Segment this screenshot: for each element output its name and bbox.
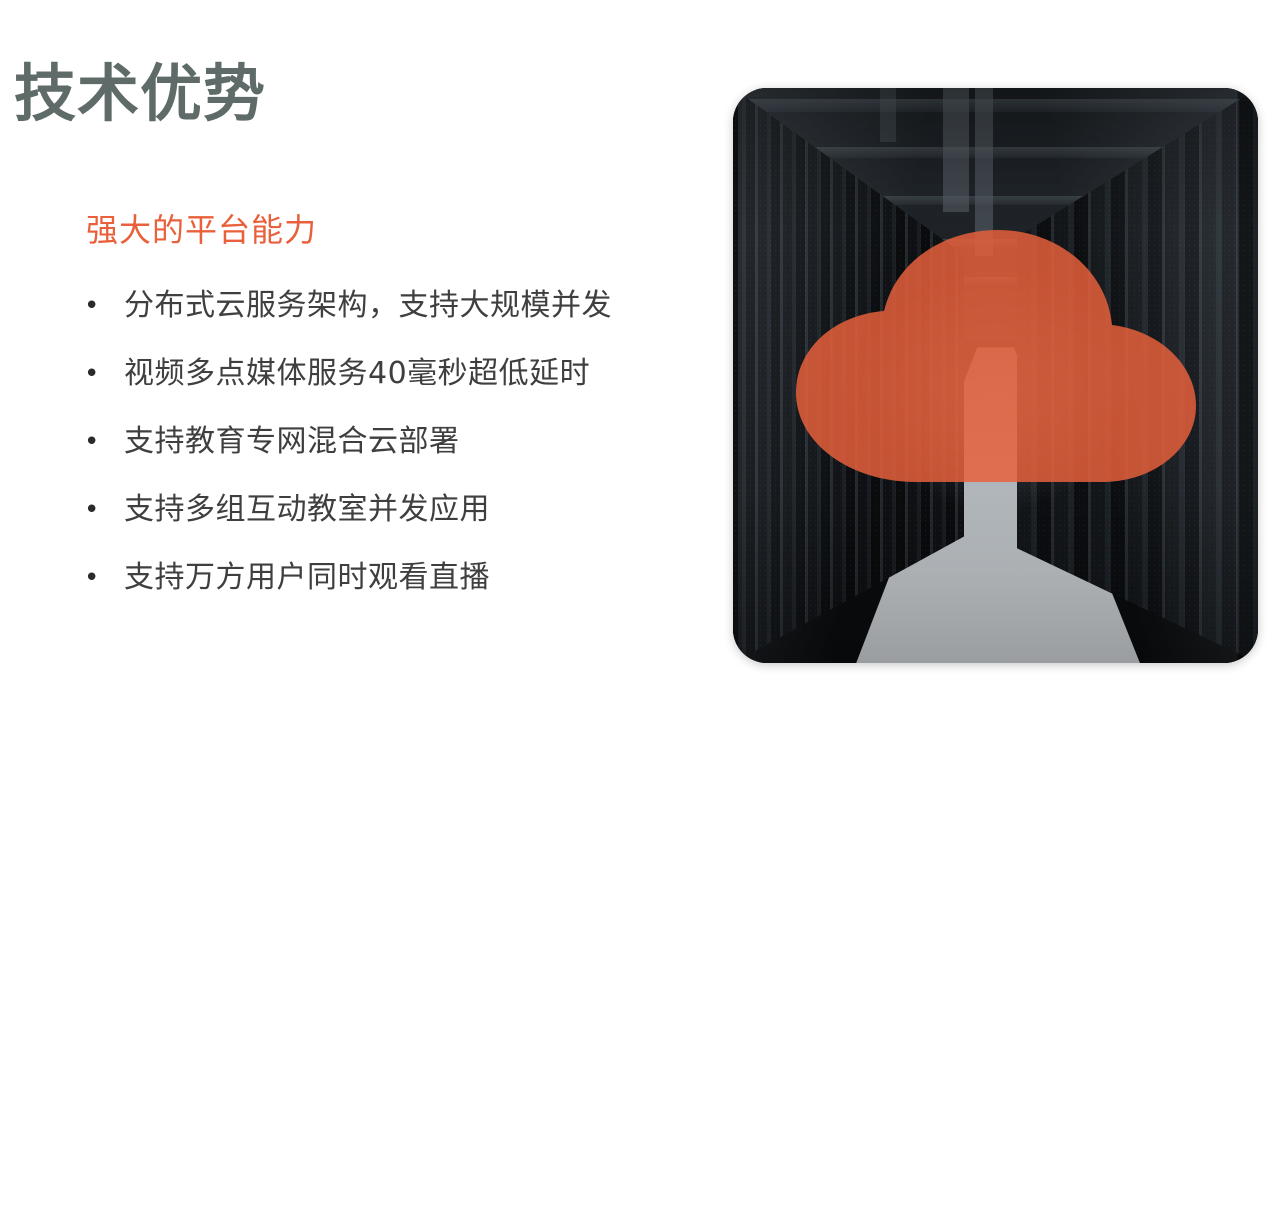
data-center-photo-card [733,88,1258,663]
list-item: • 分布式云服务架构，支持大规模并发 [0,284,700,328]
server-room-scene [733,88,1258,663]
page-title: 技术优势 [14,58,266,129]
list-item: • 支持教育专网混合云部署 [0,420,700,464]
list-item-label: 支持教育专网混合云部署 [124,424,460,459]
list-item: • 视频多点媒体服务40毫秒超低延时 [0,352,700,396]
list-item: • 支持多组互动教室并发应用 [0,488,700,532]
bullet-point-icon: • [84,284,98,328]
bullet-point-icon: • [84,488,98,532]
photo-reflection [733,666,1258,824]
bullet-point-icon: • [84,556,98,600]
list-item-label: 视频多点媒体服务40毫秒超低延时 [124,356,590,391]
list-item-label: 支持多组互动教室并发应用 [124,492,490,527]
content-column: 强大的平台能力 • 分布式云服务架构，支持大规模并发 • 视频多点媒体服务40毫… [0,210,700,600]
list-item-label: 分布式云服务架构，支持大规模并发 [124,288,612,323]
bullet-point-icon: • [84,420,98,464]
list-item: • 支持万方用户同时观看直播 [0,556,700,600]
list-item-label: 支持万方用户同时观看直播 [124,560,490,595]
feature-bullet-list: • 分布式云服务架构，支持大规模并发 • 视频多点媒体服务40毫秒超低延时 • … [0,284,700,600]
section-heading: 强大的平台能力 [86,210,700,250]
bullet-point-icon: • [84,352,98,396]
